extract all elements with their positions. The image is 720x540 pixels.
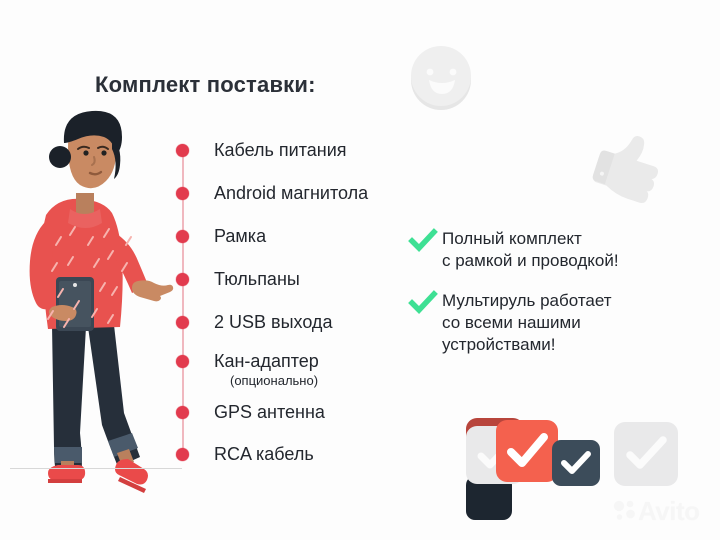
advertisement-image: Комплект поставки: Кабель питания bbox=[0, 0, 720, 540]
bullet-dot-icon bbox=[176, 355, 189, 368]
list-item-label: Рамка bbox=[214, 226, 266, 246]
list-item: Android магнитола bbox=[176, 183, 368, 203]
bullet-dot-icon bbox=[176, 406, 189, 419]
benefit-text: Полный комплект с рамкой и проводкой! bbox=[442, 228, 619, 272]
list-item: Рамка bbox=[176, 226, 266, 246]
list-item: Кан-адаптер (опционально) bbox=[176, 351, 319, 388]
checkbox-cards-decoration bbox=[466, 418, 686, 494]
benefit-line-1: Мультируль работает bbox=[442, 291, 612, 310]
thumbs-up-icon bbox=[578, 118, 670, 210]
benefit-line-3: устройствами! bbox=[442, 335, 556, 354]
list-item-label: GPS антенна bbox=[214, 402, 325, 422]
list-item: 2 USB выхода bbox=[176, 312, 332, 332]
bullet-dot-icon bbox=[176, 144, 189, 157]
checkbox-card-coral bbox=[496, 420, 558, 482]
check-mark-icon bbox=[408, 226, 438, 256]
benefits-list: Полный комплект с рамкой и проводкой! Му… bbox=[408, 228, 708, 374]
list-item-title: Кан-адаптер bbox=[214, 351, 319, 371]
list-item: Кабель питания bbox=[176, 140, 347, 160]
list-item: Тюльпаны bbox=[176, 269, 300, 289]
avito-logo-icon bbox=[612, 498, 638, 524]
bullet-dot-icon bbox=[176, 230, 189, 243]
checkbox-card-dark bbox=[552, 440, 600, 486]
checkbox-card-grey-right bbox=[614, 422, 678, 486]
illustration-woman-with-tablet bbox=[8, 95, 178, 495]
bullet-dot-icon bbox=[176, 448, 189, 461]
list-item-label: Кабель питания bbox=[214, 140, 347, 160]
bullet-dot-icon bbox=[176, 187, 189, 200]
list-item: GPS антенна bbox=[176, 402, 325, 422]
page-title: Комплект поставки: bbox=[95, 72, 316, 98]
package-contents-list: Кабель питания Android магнитола Рамка Т… bbox=[176, 140, 436, 460]
ground-line bbox=[10, 468, 182, 469]
list-item-label: Тюльпаны bbox=[214, 269, 300, 289]
avito-watermark: Avito bbox=[612, 498, 700, 524]
benefit-item: Мультируль работает со всеми нашими устр… bbox=[408, 290, 708, 356]
smiley-face-icon bbox=[405, 42, 477, 114]
check-mark-icon bbox=[408, 288, 438, 318]
list-item-sublabel: (опционально) bbox=[230, 373, 319, 388]
list-item-label: Кан-адаптер (опционально) bbox=[214, 351, 319, 388]
list-item-label: Android магнитола bbox=[214, 183, 368, 203]
benefit-item: Полный комплект с рамкой и проводкой! bbox=[408, 228, 708, 272]
avito-watermark-label: Avito bbox=[638, 498, 700, 524]
list-item-label: 2 USB выхода bbox=[214, 312, 332, 332]
bullet-dot-icon bbox=[176, 316, 189, 329]
benefit-line-2: с рамкой и проводкой! bbox=[442, 251, 619, 270]
list-item: RCA кабель bbox=[176, 444, 314, 464]
list-item-label: RCA кабель bbox=[214, 444, 314, 464]
bullet-dot-icon bbox=[176, 273, 189, 286]
benefit-line-1: Полный комплект bbox=[442, 229, 582, 248]
benefit-line-2: со всеми нашими bbox=[442, 313, 581, 332]
benefit-text: Мультируль работает со всеми нашими устр… bbox=[442, 290, 612, 356]
